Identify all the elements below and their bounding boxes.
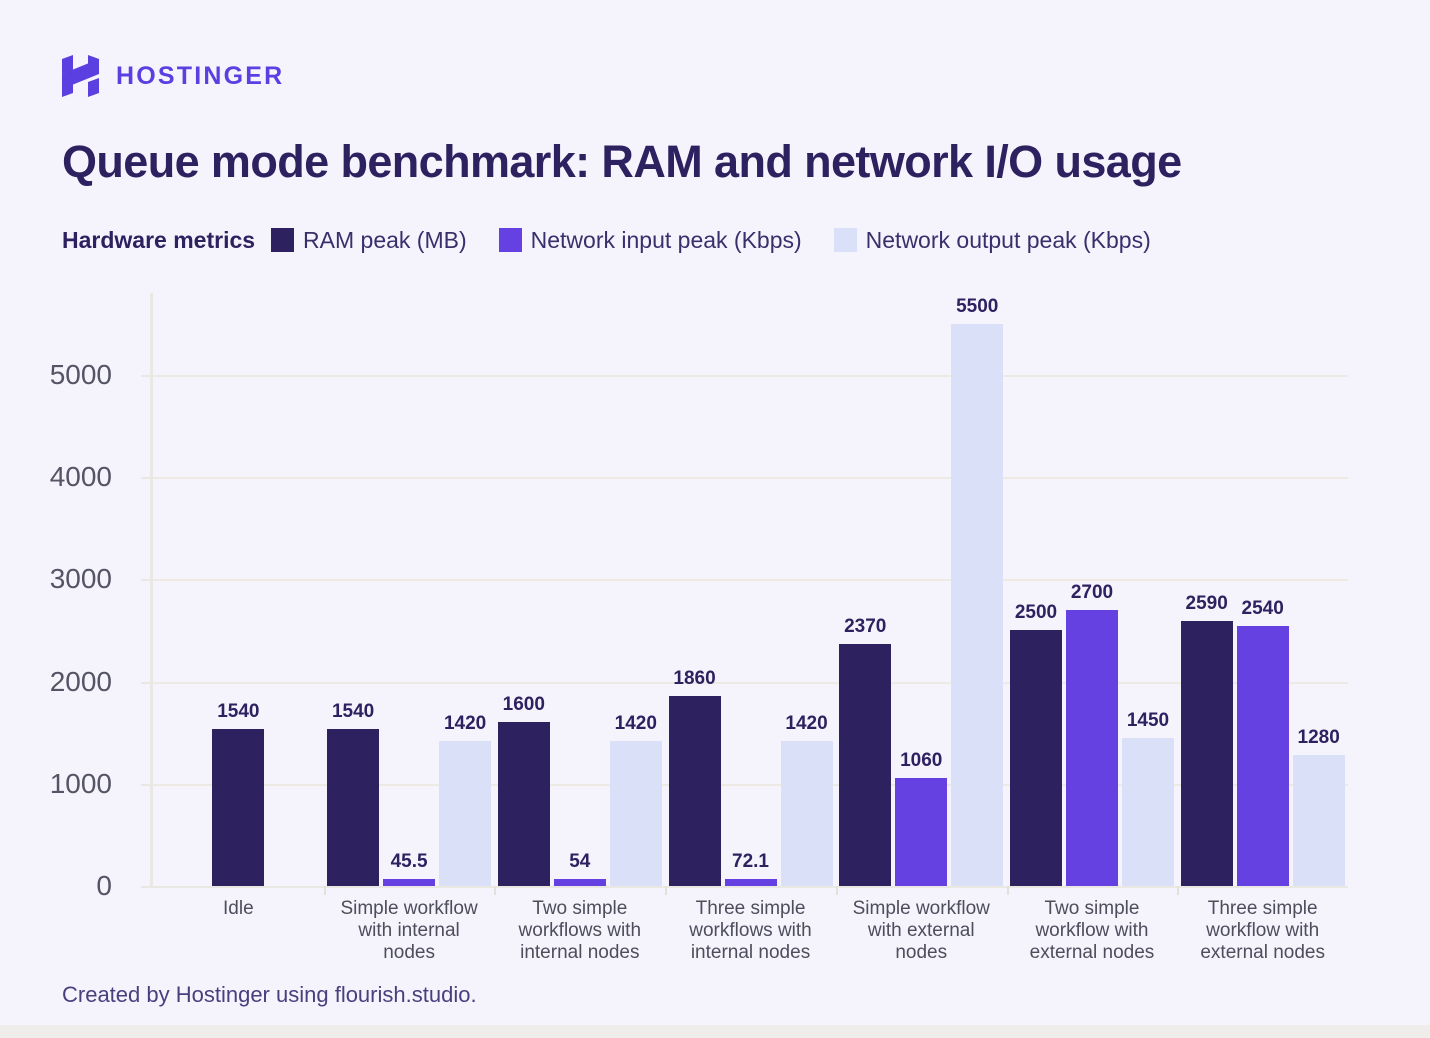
bar[interactable] (1237, 626, 1289, 886)
bar-slot: 2500 (1010, 293, 1062, 886)
legend-label-network-output-peak: Network output peak (Kbps) (866, 227, 1151, 254)
bar-slot: 1420 (439, 293, 491, 886)
bar[interactable] (610, 741, 662, 886)
bar-slot: 54 (554, 293, 606, 886)
bar[interactable] (725, 879, 777, 886)
bar-slot: 5500 (951, 293, 1003, 886)
bar-group: 1600541420 (494, 293, 665, 886)
chart-legend: Hardware metrics RAM peak (MB) Network i… (62, 224, 1183, 256)
legend-swatch-network-output-peak (834, 228, 857, 252)
y-axis-tick (141, 784, 153, 786)
bar-group: 237010605500 (836, 293, 1007, 886)
y-axis-tick-label: 2000 (0, 666, 112, 698)
bar-slot: 2540 (1237, 293, 1289, 886)
bar-value-label: 2500 (1015, 602, 1057, 624)
legend-label-network-input-peak: Network input peak (Kbps) (531, 227, 802, 254)
bar-value-label: 2370 (844, 616, 886, 638)
bar-value-label: 1280 (1298, 727, 1340, 749)
bar-value-label: 45.5 (391, 851, 428, 873)
bar-value-label: 1600 (503, 694, 545, 716)
bar[interactable] (781, 741, 833, 886)
bar-chart: 010002000300040005000 1540154045.5142016… (62, 286, 1372, 886)
brand-logo: HOSTINGER (62, 56, 284, 96)
legend-title: Hardware metrics (62, 227, 255, 254)
bar-group: 154045.51420 (324, 293, 495, 886)
bar-group-bars: 186072.11420 (669, 293, 833, 886)
x-axis-label: Three simpleworkflows withinternal nodes (656, 898, 846, 964)
bar[interactable] (1066, 610, 1118, 886)
bar[interactable] (1122, 738, 1174, 886)
y-axis-tick-label: 0 (0, 870, 112, 902)
x-axis-label: Two simpleworkflow withexternal nodes (997, 898, 1187, 964)
x-axis-label: Two simpleworkflows withinternal nodes (485, 898, 675, 964)
bar-slot: 2700 (1066, 293, 1118, 886)
bar[interactable] (383, 879, 435, 886)
bar-slot: 1860 (669, 293, 721, 886)
legend-swatch-network-input-peak (499, 228, 522, 252)
bar[interactable] (839, 644, 891, 886)
bar-group-bars: 1540 (212, 293, 264, 886)
bar[interactable] (327, 729, 379, 886)
bar-group: 1540 (153, 293, 324, 886)
bar-value-label: 1540 (332, 701, 374, 723)
legend-label-ram-peak: RAM peak (MB) (303, 227, 467, 254)
legend-item-network-input-peak[interactable]: Network input peak (Kbps) (499, 227, 802, 254)
bar-group: 186072.11420 (665, 293, 836, 886)
bar[interactable] (669, 696, 721, 886)
bar[interactable] (1293, 755, 1345, 886)
bar-slot: 1540 (327, 293, 379, 886)
hostinger-h-logo-icon (62, 55, 100, 97)
bar-value-label: 72.1 (732, 851, 769, 873)
bar-value-label: 1420 (785, 713, 827, 735)
bottom-strip (0, 1025, 1430, 1038)
y-axis-tick-label: 1000 (0, 768, 112, 800)
bar-group-bars: 259025401280 (1181, 293, 1345, 886)
bar-slot: 2590 (1181, 293, 1233, 886)
bar-group-bars: 237010605500 (839, 293, 1003, 886)
y-axis-tick (141, 579, 153, 581)
bar-value-label: 5500 (956, 296, 998, 318)
bar-value-label: 1540 (217, 701, 259, 723)
bar-value-label: 2590 (1186, 593, 1228, 615)
legend-item-network-output-peak[interactable]: Network output peak (Kbps) (834, 227, 1151, 254)
bar-value-label: 2700 (1071, 582, 1113, 604)
bar-value-label: 1420 (444, 713, 486, 735)
legend-swatch-ram-peak (271, 228, 294, 252)
bar-group-bars: 250027001450 (1010, 293, 1174, 886)
chart-page: HOSTINGER Queue mode benchmark: RAM and … (0, 0, 1430, 1038)
bar-slot: 1450 (1122, 293, 1174, 886)
chart-credit: Created by Hostinger using flourish.stud… (62, 982, 477, 1008)
x-axis-label: Simple workflowwith internalnodes (314, 898, 504, 964)
bar-slot: 72.1 (725, 293, 777, 886)
x-axis-label: Idle (143, 898, 333, 920)
bar[interactable] (951, 324, 1003, 886)
plot-area: 010002000300040005000 1540154045.5142016… (150, 293, 1348, 886)
bar-group-bars: 1600541420 (498, 293, 662, 886)
bar-value-label: 1060 (900, 750, 942, 772)
y-axis-tick (141, 682, 153, 684)
bar-slot: 45.5 (383, 293, 435, 886)
y-axis-tick-label: 4000 (0, 461, 112, 493)
bar-slot: 1420 (610, 293, 662, 886)
bar-slot: 1600 (498, 293, 550, 886)
y-axis-tick-label: 5000 (0, 359, 112, 391)
y-axis-tick (141, 477, 153, 479)
bar-slot: 1420 (781, 293, 833, 886)
y-axis-tick (141, 886, 153, 888)
bar[interactable] (498, 722, 550, 886)
y-axis-tick-label: 3000 (0, 563, 112, 595)
legend-item-ram-peak[interactable]: RAM peak (MB) (271, 227, 467, 254)
gridline (153, 886, 1348, 888)
bar-slot: 1060 (895, 293, 947, 886)
bar-group-bars: 154045.51420 (327, 293, 491, 886)
bar-slot: 2370 (839, 293, 891, 886)
bar-slot: 1540 (212, 293, 264, 886)
bar[interactable] (895, 778, 947, 886)
bar[interactable] (1181, 621, 1233, 886)
bar[interactable] (212, 729, 264, 886)
bar-value-label: 1860 (673, 668, 715, 690)
bar-group: 259025401280 (1177, 293, 1348, 886)
bar-groups: 1540154045.514201600541420186072.1142023… (153, 293, 1348, 886)
bar-value-label: 1450 (1127, 710, 1169, 732)
bar-value-label: 1420 (615, 713, 657, 735)
x-axis-label: Three simpleworkflow withexternal nodes (1168, 898, 1358, 964)
bar[interactable] (1010, 630, 1062, 886)
x-axis-label: Simple workflowwith externalnodes (826, 898, 1016, 964)
bar-value-label: 54 (569, 851, 590, 873)
bar-slot: 1280 (1293, 293, 1345, 886)
brand-name: HOSTINGER (116, 62, 284, 91)
bar-group: 250027001450 (1007, 293, 1178, 886)
bar[interactable] (439, 741, 491, 886)
page-title: Queue mode benchmark: RAM and network I/… (62, 136, 1392, 188)
bar-value-label: 2540 (1242, 598, 1284, 620)
y-axis-tick (141, 375, 153, 377)
bar[interactable] (554, 879, 606, 886)
